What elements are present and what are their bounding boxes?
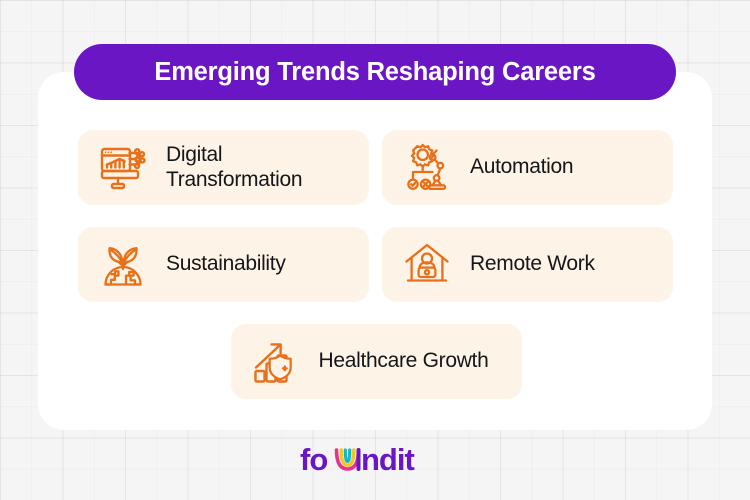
card-row-1: Digital Transformation [78, 130, 674, 205]
title-banner: Emerging Trends Reshaping Careers [74, 44, 676, 100]
trend-card-label: Healthcare Growth [319, 349, 489, 373]
trend-card-remote-work[interactable]: Remote Work [382, 227, 673, 302]
svg-text:ndit: ndit [361, 442, 414, 477]
gear-robotic-arm-icon [396, 137, 458, 199]
trend-card-healthcare-growth[interactable]: Healthcare Growth [231, 324, 522, 399]
svg-text:fo: fo [300, 442, 327, 477]
trends-card-grid: Digital Transformation [78, 130, 674, 402]
trend-card-sustainability[interactable]: Sustainability [78, 227, 369, 302]
card-row-3: Healthcare Growth [78, 324, 674, 399]
monitor-chart-circuit-icon [92, 137, 154, 199]
trend-card-automation[interactable]: Automation [382, 130, 673, 205]
trend-card-label: Digital Transformation [166, 143, 346, 192]
trend-card-label: Automation [470, 155, 573, 179]
foundit-wordmark-icon: fo ndit [300, 438, 450, 482]
trend-card-digital-transformation[interactable]: Digital Transformation [78, 130, 369, 205]
growth-bars-medical-shield-icon [245, 331, 307, 393]
trend-card-label: Sustainability [166, 252, 286, 276]
page-title: Emerging Trends Reshaping Careers [154, 58, 595, 87]
foundit-logo[interactable]: foundit fo ndit [0, 438, 750, 482]
sprout-globe-icon [92, 234, 154, 296]
trend-card-label: Remote Work [470, 252, 595, 276]
card-row-2: Sustainability Remote Work [78, 227, 674, 302]
house-laptop-person-icon [396, 234, 458, 296]
